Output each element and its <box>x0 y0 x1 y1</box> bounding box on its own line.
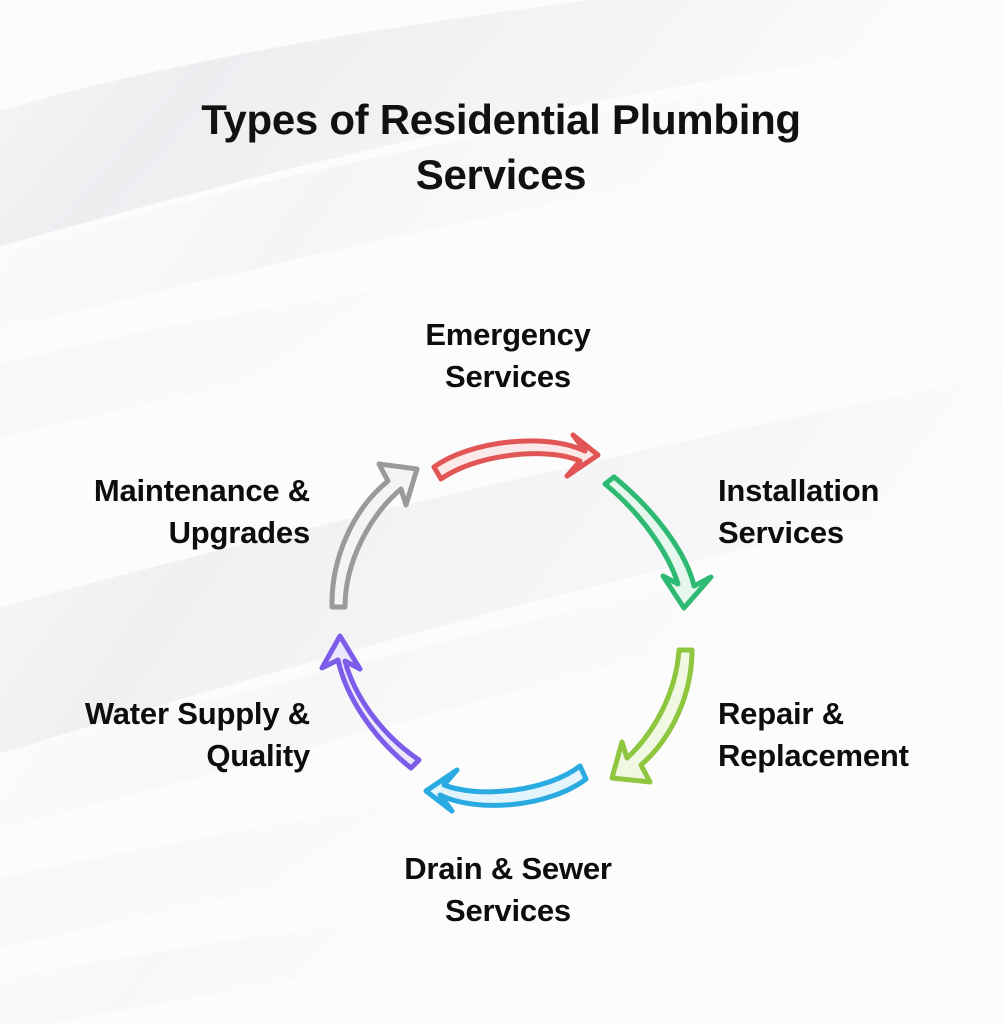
cycle-arrow-installation-services[interactable] <box>605 477 711 608</box>
cycle-label-installation-services: Installation Services <box>718 470 998 555</box>
cycle-label-drain-sewer-services: Drain & Sewer Services <box>308 848 708 933</box>
diagram-canvas: Types of Residential Plumbing Services E… <box>0 0 1002 1024</box>
cycle-label-repair-replacement: Repair & Replacement <box>718 693 998 778</box>
cycle-label-water-supply-quality: Water Supply & Quality <box>10 693 310 778</box>
cycle-arrow-drain-sewer-services[interactable] <box>426 766 586 811</box>
cycle-label-emergency-services: Emergency Services <box>308 314 708 399</box>
cycle-arrow-water-supply-quality[interactable] <box>322 636 419 768</box>
cycle-arrow-emergency-services[interactable] <box>434 435 598 479</box>
cycle-label-maintenance-upgrades: Maintenance & Upgrades <box>10 470 310 555</box>
cycle-arrow-repair-replacement[interactable] <box>612 650 692 782</box>
cycle-arrow-maintenance-upgrades[interactable] <box>332 464 417 607</box>
